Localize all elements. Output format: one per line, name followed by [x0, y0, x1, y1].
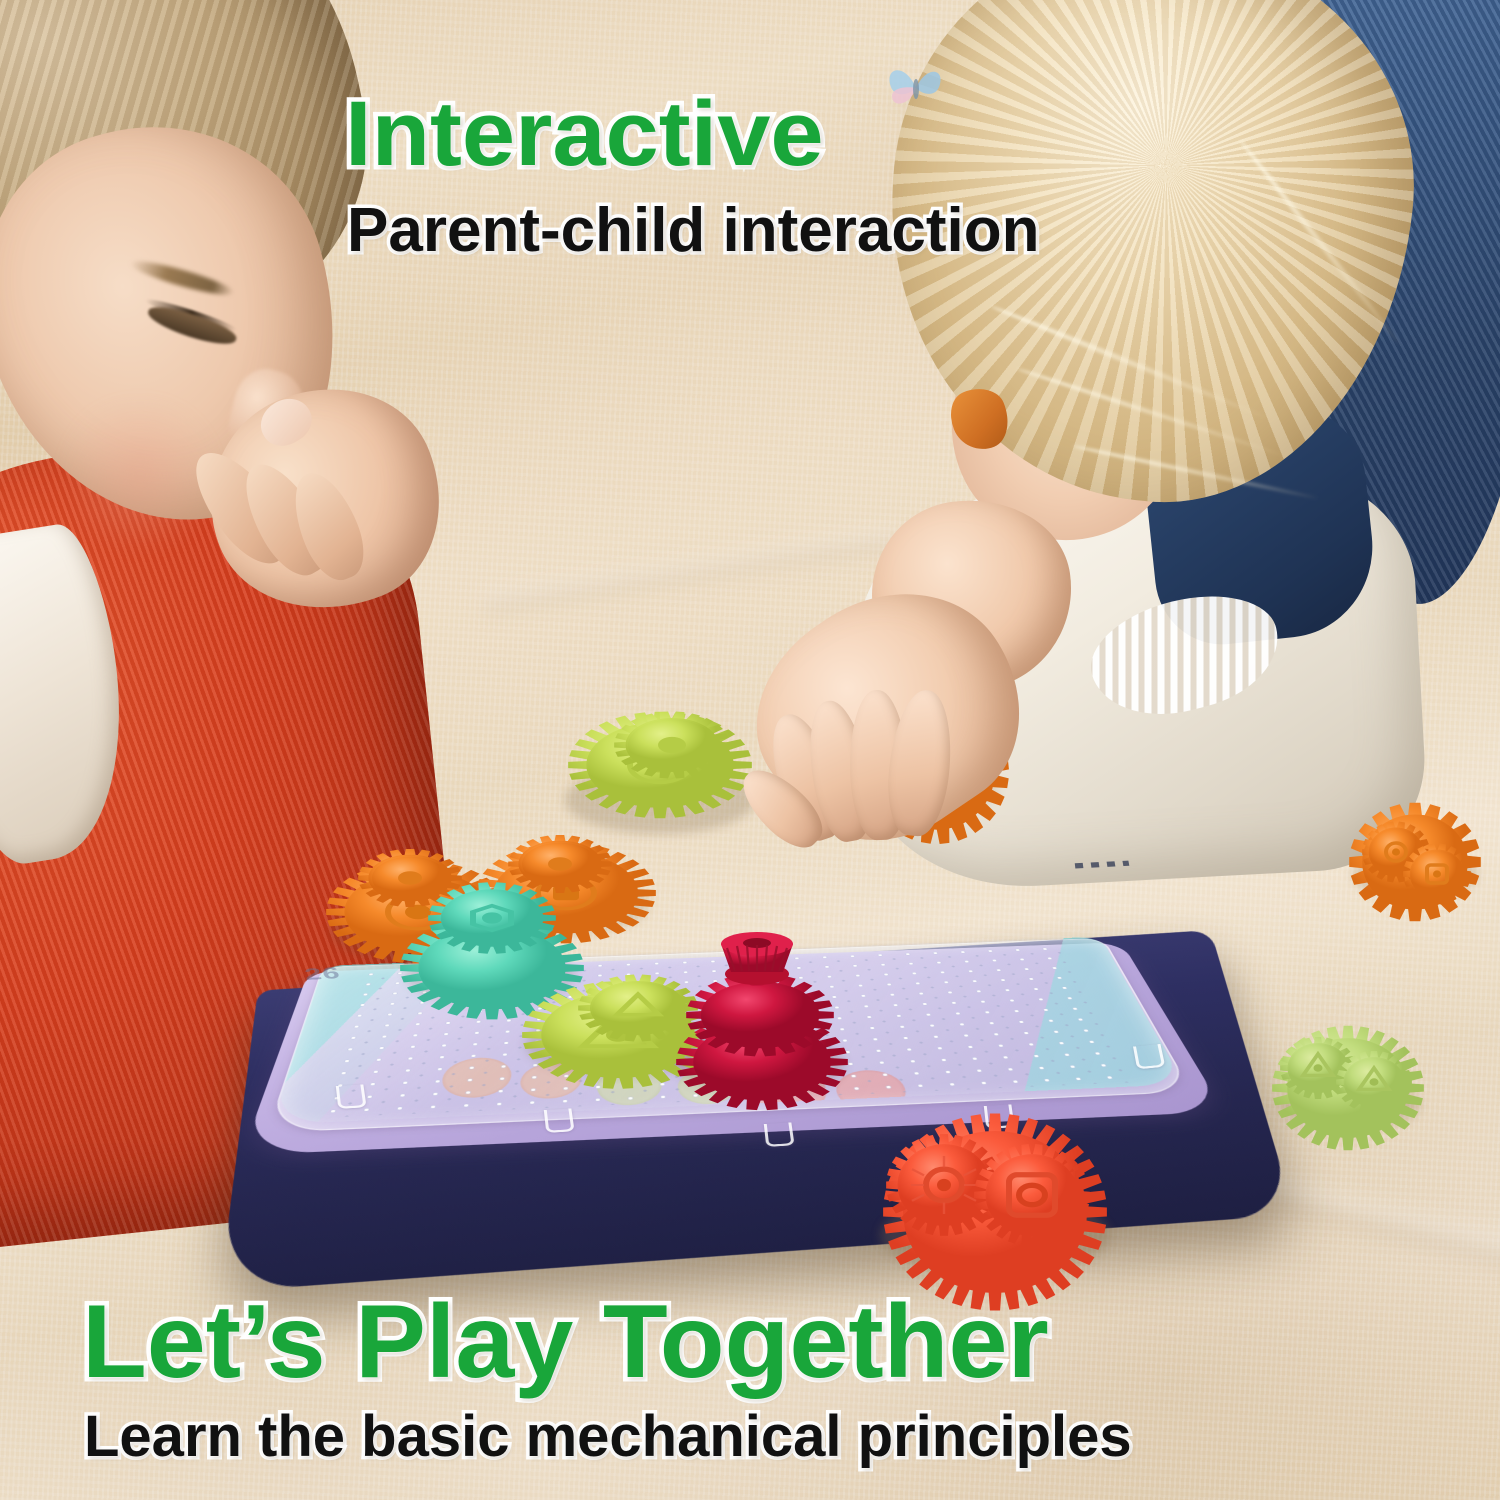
- board-edge-clip: [764, 1122, 795, 1147]
- board-edge-clip: [544, 1108, 575, 1133]
- bottom-subheadline: Learn the basic mechanical principles: [84, 1408, 1132, 1466]
- peg-grid-shadow: [343, 951, 1131, 1117]
- board-edge-clip: [984, 1104, 1015, 1129]
- product-marketing-image: 26: [0, 0, 1500, 1500]
- board-edge-clip: [336, 1084, 367, 1109]
- board-marking-26: 26: [303, 964, 343, 984]
- bottom-headline: Let’s Play Together: [82, 1290, 1049, 1394]
- child-reaching-arm: [700, 0, 1100, 900]
- board-edge-clip: [1133, 1044, 1165, 1069]
